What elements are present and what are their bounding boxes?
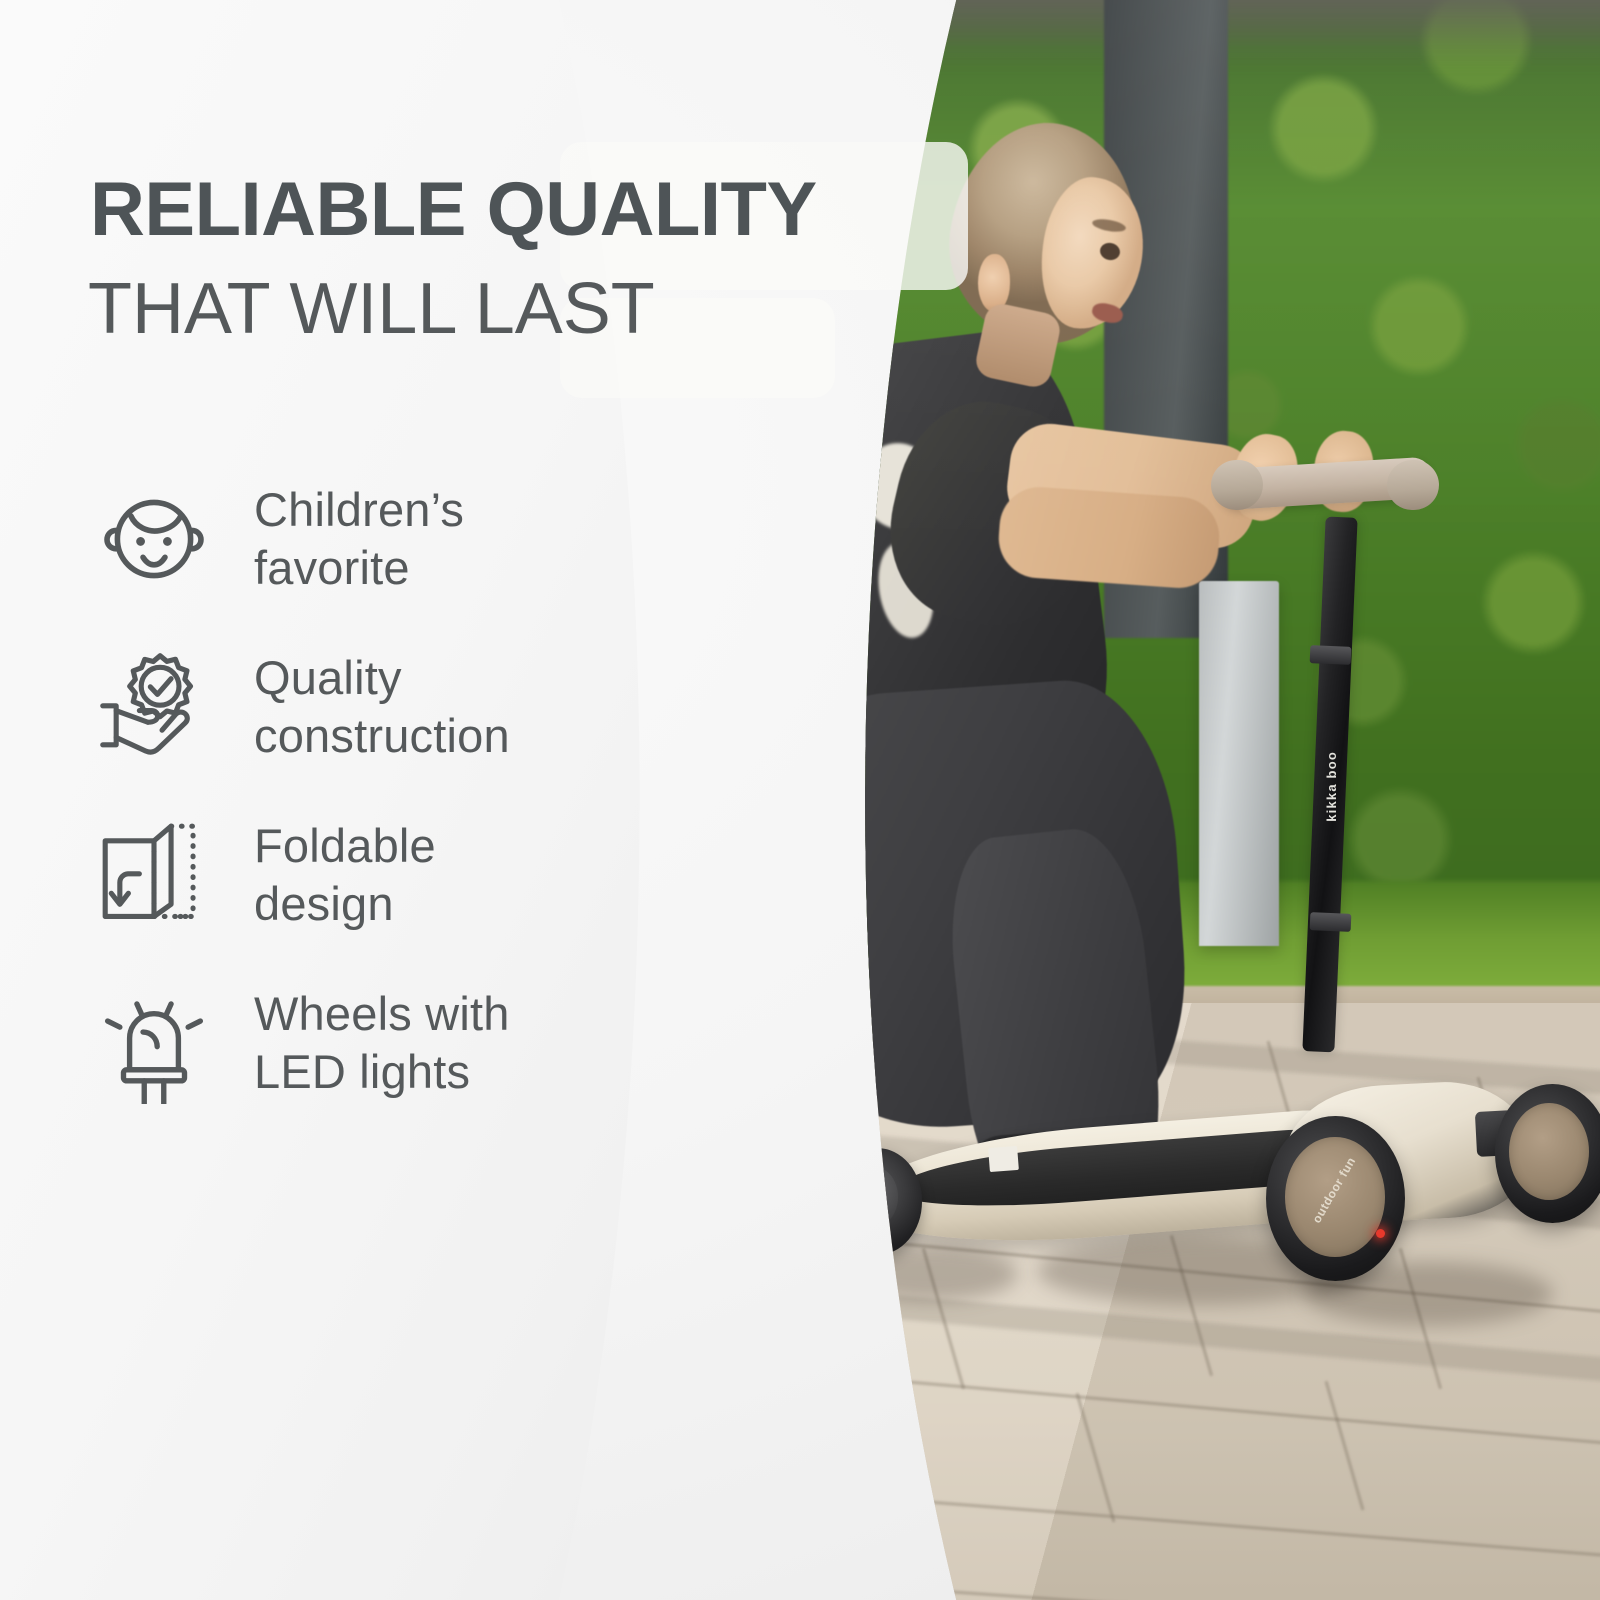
feature-label-childrens-favorite: Children’s favorite bbox=[254, 481, 464, 597]
feature-label-line1: Foldable bbox=[254, 817, 436, 875]
feature-list: Children’s favorite bbox=[88, 455, 708, 1127]
feature-label-line1: Wheels with bbox=[254, 985, 510, 1043]
feature-label-line2: LED lights bbox=[254, 1043, 510, 1101]
led-bulb-icon bbox=[88, 977, 220, 1109]
feature-item-foldable-design: Foldable design bbox=[88, 791, 708, 959]
feature-label-line2: favorite bbox=[254, 539, 464, 597]
page-title: RELIABLE QUALITY bbox=[90, 168, 817, 252]
feature-item-led-wheels: Wheels with LED lights bbox=[88, 959, 708, 1127]
feature-item-childrens-favorite: Children’s favorite bbox=[88, 455, 708, 623]
quality-badge-hand-icon bbox=[88, 641, 220, 773]
text-content: RELIABLE QUALITY THAT WILL LAST bbox=[0, 0, 1600, 1600]
product-feature-poster: outdoor fun kikka boo RELIABLE QUALITY T… bbox=[0, 0, 1600, 1600]
feature-label-line2: design bbox=[254, 875, 436, 933]
feature-label-led-wheels: Wheels with LED lights bbox=[254, 985, 510, 1101]
feature-label-line1: Children’s bbox=[254, 481, 464, 539]
feature-label-line1: Quality bbox=[254, 649, 510, 707]
foldable-panel-icon bbox=[88, 809, 220, 941]
feature-item-quality-construction: Quality construction bbox=[88, 623, 708, 791]
feature-label-quality-construction: Quality construction bbox=[254, 649, 510, 765]
baby-face-icon bbox=[88, 473, 220, 605]
feature-label-line2: construction bbox=[254, 707, 510, 765]
feature-label-foldable-design: Foldable design bbox=[254, 817, 436, 933]
page-subtitle: THAT WILL LAST bbox=[88, 268, 655, 350]
